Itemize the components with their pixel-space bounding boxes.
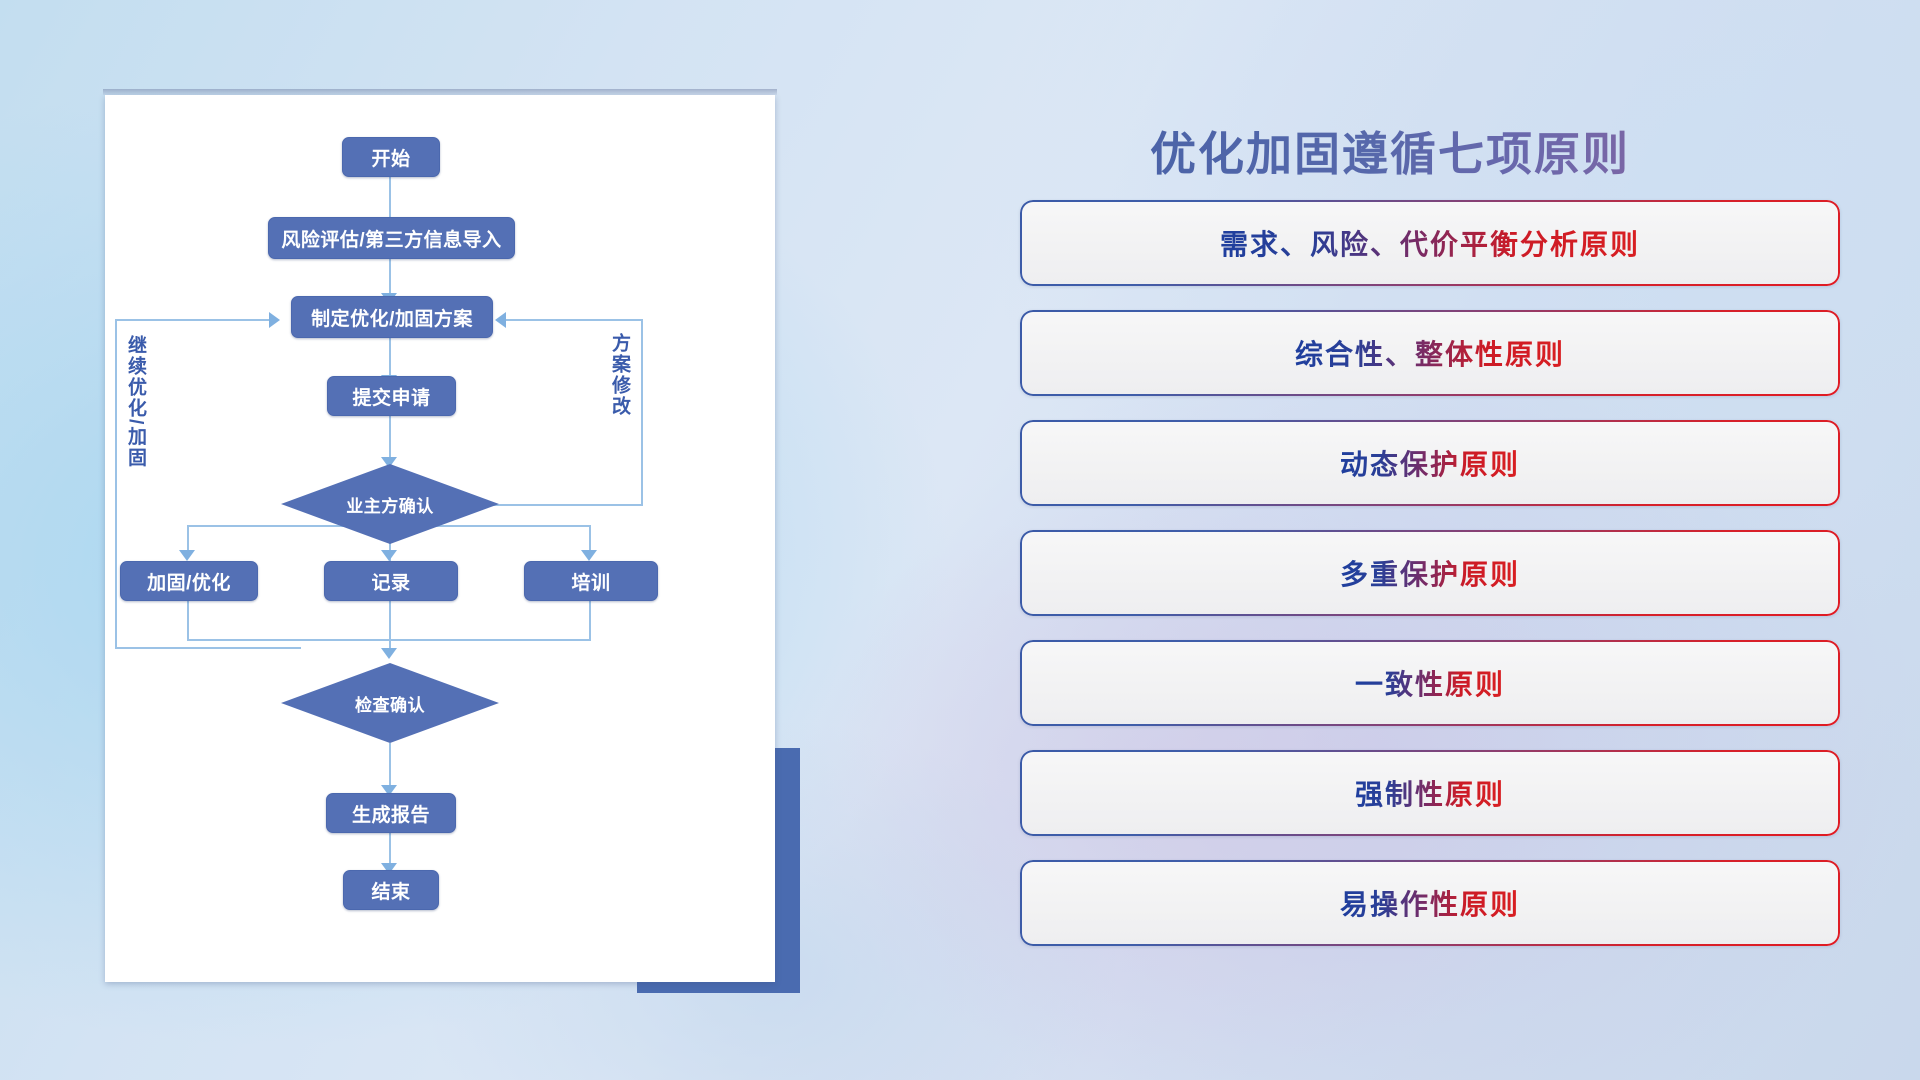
edge-training-merge-v: [589, 599, 591, 641]
principle-card[interactable]: 一致性原则: [1020, 640, 1840, 726]
flow-node-training[interactable]: 培训: [524, 561, 658, 601]
flowchart-canvas: 继续优化/加固 方案修改 开始 风险评估/第三方信息导入 制定优化/加固方案 提…: [105, 95, 775, 982]
edge-leftloop-arrow: [269, 312, 280, 328]
edge-start-risk: [389, 175, 391, 223]
principles-panel: 优化加固遵循七项原则 需求、风险、代价平衡分析原则 综合性、整体性原则 动态保护…: [1020, 90, 1840, 1010]
principle-label: 一致性原则: [1355, 663, 1505, 703]
edge-branch-left-arrow: [179, 550, 195, 561]
flow-node-generate-report[interactable]: 生成报告: [326, 793, 456, 833]
flow-node-check-confirm-label: 检查确认: [355, 691, 425, 716]
flow-node-owner-confirm-label: 业主方确认: [346, 492, 434, 517]
flow-node-submit-application[interactable]: 提交申请: [327, 376, 456, 416]
edge-branch-right-arrow: [581, 550, 597, 561]
principle-card[interactable]: 易操作性原则: [1020, 860, 1840, 946]
principle-card[interactable]: 综合性、整体性原则: [1020, 310, 1840, 396]
edge-owner-rightloop-v: [641, 319, 643, 506]
principle-card[interactable]: 强制性原则: [1020, 750, 1840, 836]
edge-record-to-check: [389, 599, 391, 655]
principle-label: 动态保护原则: [1340, 443, 1520, 483]
edge-label-plan-revision: 方案修改: [609, 333, 629, 417]
panel-title: 优化加固遵循七项原则: [1150, 118, 1630, 184]
edge-owner-rightloop-h: [491, 504, 643, 506]
edge-check-leftloop-h: [115, 647, 301, 649]
principle-label: 综合性、整体性原则: [1295, 333, 1565, 373]
edge-reinforce-merge-v: [187, 599, 189, 641]
principle-card[interactable]: 需求、风险、代价平衡分析原则: [1020, 200, 1840, 286]
principle-label: 强制性原则: [1355, 773, 1505, 813]
flow-node-risk-assessment[interactable]: 风险评估/第三方信息导入: [268, 217, 515, 259]
edge-rightloop-arrow: [495, 312, 506, 328]
principle-label: 多重保护原则: [1340, 553, 1520, 593]
flow-node-check-confirm[interactable]: 检查确认: [281, 663, 499, 743]
flow-node-make-plan[interactable]: 制定优化/加固方案: [291, 296, 493, 338]
flow-node-end[interactable]: 结束: [343, 870, 439, 910]
principle-label: 需求、风险、代价平衡分析原则: [1220, 223, 1640, 263]
edge-check-leftloop-v: [115, 319, 117, 649]
principle-card[interactable]: 多重保护原则: [1020, 530, 1840, 616]
principle-card[interactable]: 动态保护原则: [1020, 420, 1840, 506]
edge-merge-arrow: [381, 648, 397, 659]
principles-list: 需求、风险、代价平衡分析原则 综合性、整体性原则 动态保护原则 多重保护原则 一…: [1020, 200, 1840, 970]
edge-rightloop-to-plan: [505, 319, 643, 321]
flow-node-record[interactable]: 记录: [324, 561, 458, 601]
flow-node-start[interactable]: 开始: [342, 137, 440, 177]
flowchart-card: 继续优化/加固 方案修改 开始 风险评估/第三方信息导入 制定优化/加固方案 提…: [105, 95, 775, 982]
edge-label-continue-optimize: 继续优化/加固: [125, 335, 145, 468]
edge-leftloop-to-plan: [115, 319, 273, 321]
principle-label: 易操作性原则: [1340, 883, 1520, 923]
flow-node-reinforce-optimize[interactable]: 加固/优化: [120, 561, 258, 601]
flow-node-owner-confirm[interactable]: 业主方确认: [281, 464, 499, 544]
edge-branch-mid-arrow: [381, 550, 397, 561]
